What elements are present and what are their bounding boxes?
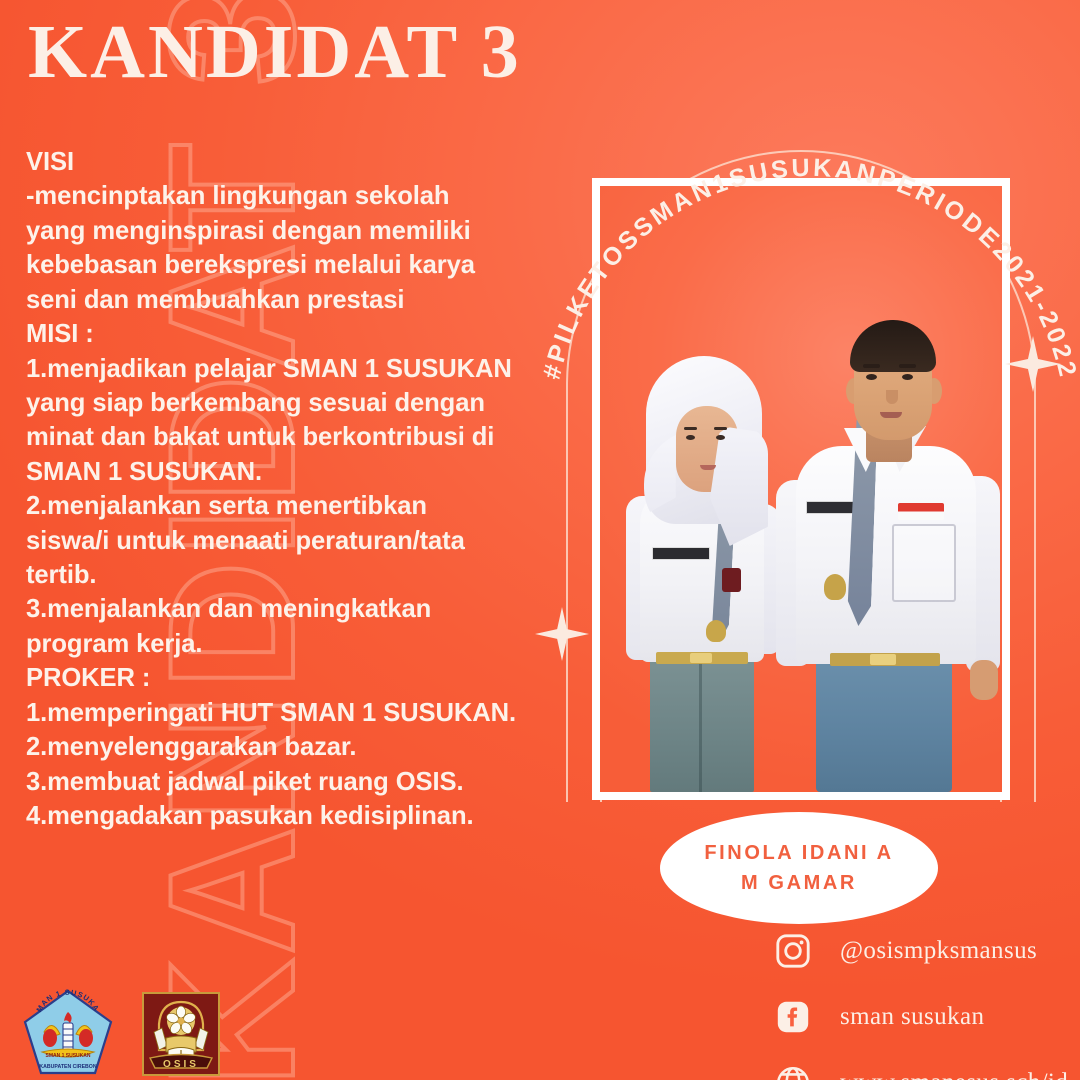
body-line: MISI : xyxy=(26,317,526,351)
body-line: SMAN 1 SUSUKAN. xyxy=(26,455,526,489)
candidate-name-badge: FINOLA IDANI A M GAMAR xyxy=(660,812,938,924)
page-title: KANDIDAT 3 xyxy=(28,14,522,90)
girl-name-tag xyxy=(652,547,710,560)
body-line: 4.mengadakan pasukan kedisiplinan. xyxy=(26,799,526,833)
instagram-handle: @osismpksmansus xyxy=(840,937,1037,965)
body-line: 1.menjadikan pelajar SMAN 1 SUSUKAN xyxy=(26,352,526,386)
candidate-photo xyxy=(600,186,1002,792)
boy-shirt-pocket xyxy=(892,524,956,602)
girl-skirt xyxy=(650,642,754,792)
boy-nose xyxy=(886,390,898,404)
candidate-photo-frame xyxy=(592,178,1010,800)
candidate-name-1: FINOLA IDANI A xyxy=(704,842,893,865)
body-line: 2.menyelenggarakan bazar. xyxy=(26,730,526,764)
body-line: -mencinptakan lingkungan sekolah xyxy=(26,179,526,213)
boy-hand-right xyxy=(970,660,998,700)
body-line: yang menginspirasi dengan memiliki xyxy=(26,214,526,248)
girl-belt xyxy=(656,652,748,664)
girl-tie-emblem xyxy=(706,620,726,642)
girl-brow-right xyxy=(714,427,727,430)
website-url: www.smanesus.sch/id xyxy=(840,1069,1068,1080)
boy-mouth xyxy=(880,412,902,418)
vision-mission-text: VISI -mencinptakan lingkungan sekolah ya… xyxy=(26,145,526,833)
body-line: seni dan membuahkan prestasi xyxy=(26,283,526,317)
boy-brow-left xyxy=(863,364,880,368)
facebook-icon xyxy=(772,996,814,1038)
social-row-website[interactable]: www.smanesus.sch/id xyxy=(772,1062,1068,1080)
body-line: yang siap berkembang sesuai dengan xyxy=(26,386,526,420)
logo-group: SMAN 1 SUSUKAN SMAN 1 SUSUKAN KABUPATEN … xyxy=(22,988,220,1076)
school-logo: SMAN 1 SUSUKAN SMAN 1 SUSUKAN KABUPATEN … xyxy=(22,988,114,1076)
globe-icon xyxy=(772,1062,814,1080)
facebook-handle: sman susukan xyxy=(840,1003,984,1031)
candidate-boy-figure xyxy=(770,212,1000,792)
svg-text:KABUPATEN CIREBON: KABUPATEN CIREBON xyxy=(39,1064,96,1070)
boy-brow-right xyxy=(899,364,916,368)
poster-canvas: KANDIDAT 3 KANDIDAT 3 VISI -mencinptakan… xyxy=(0,0,1080,1080)
boy-eye-right xyxy=(902,374,913,380)
boy-eye-left xyxy=(866,374,877,380)
body-line: 3.menjalankan dan meningkatkan xyxy=(26,592,526,626)
svg-text:SMAN 1 SUSUKAN: SMAN 1 SUSUKAN xyxy=(45,1053,90,1059)
body-line: 1.memperingati HUT SMAN 1 SUSUKAN. xyxy=(26,696,526,730)
instagram-icon xyxy=(772,930,814,972)
girl-eye-right xyxy=(716,435,725,440)
body-line: PROKER : xyxy=(26,661,526,695)
body-line: siswa/i untuk menaati peraturan/tata xyxy=(26,524,526,558)
boy-belt xyxy=(830,653,940,666)
social-links: @osismpksmansus sman susukan xyxy=(772,930,1068,1080)
svg-text:OSIS: OSIS xyxy=(163,1059,199,1070)
boy-flag-patch xyxy=(898,503,944,520)
social-row-facebook[interactable]: sman susukan xyxy=(772,996,1068,1038)
body-line: program kerja. xyxy=(26,627,526,661)
body-line: minat dan bakat untuk berkontribusi di xyxy=(26,420,526,454)
body-line: 2.menjalankan serta menertibkan xyxy=(26,489,526,523)
girl-shoulder-badge xyxy=(722,568,741,592)
body-line: VISI xyxy=(26,145,526,179)
body-line: 3.membuat jadwal piket ruang OSIS. xyxy=(26,765,526,799)
social-row-instagram[interactable]: @osismpksmansus xyxy=(772,930,1068,972)
girl-eye-left xyxy=(686,435,695,440)
girl-mouth xyxy=(700,465,716,470)
body-line: tertib. xyxy=(26,558,526,592)
candidate-girl-figure xyxy=(618,322,788,792)
osis-logo: OSIS xyxy=(142,992,220,1076)
candidate-name-2: M GAMAR xyxy=(741,872,857,895)
girl-brow-left xyxy=(684,427,697,430)
body-line: kebebasan berekspresi melalui karya xyxy=(26,248,526,282)
boy-chest-emblem xyxy=(824,574,846,600)
